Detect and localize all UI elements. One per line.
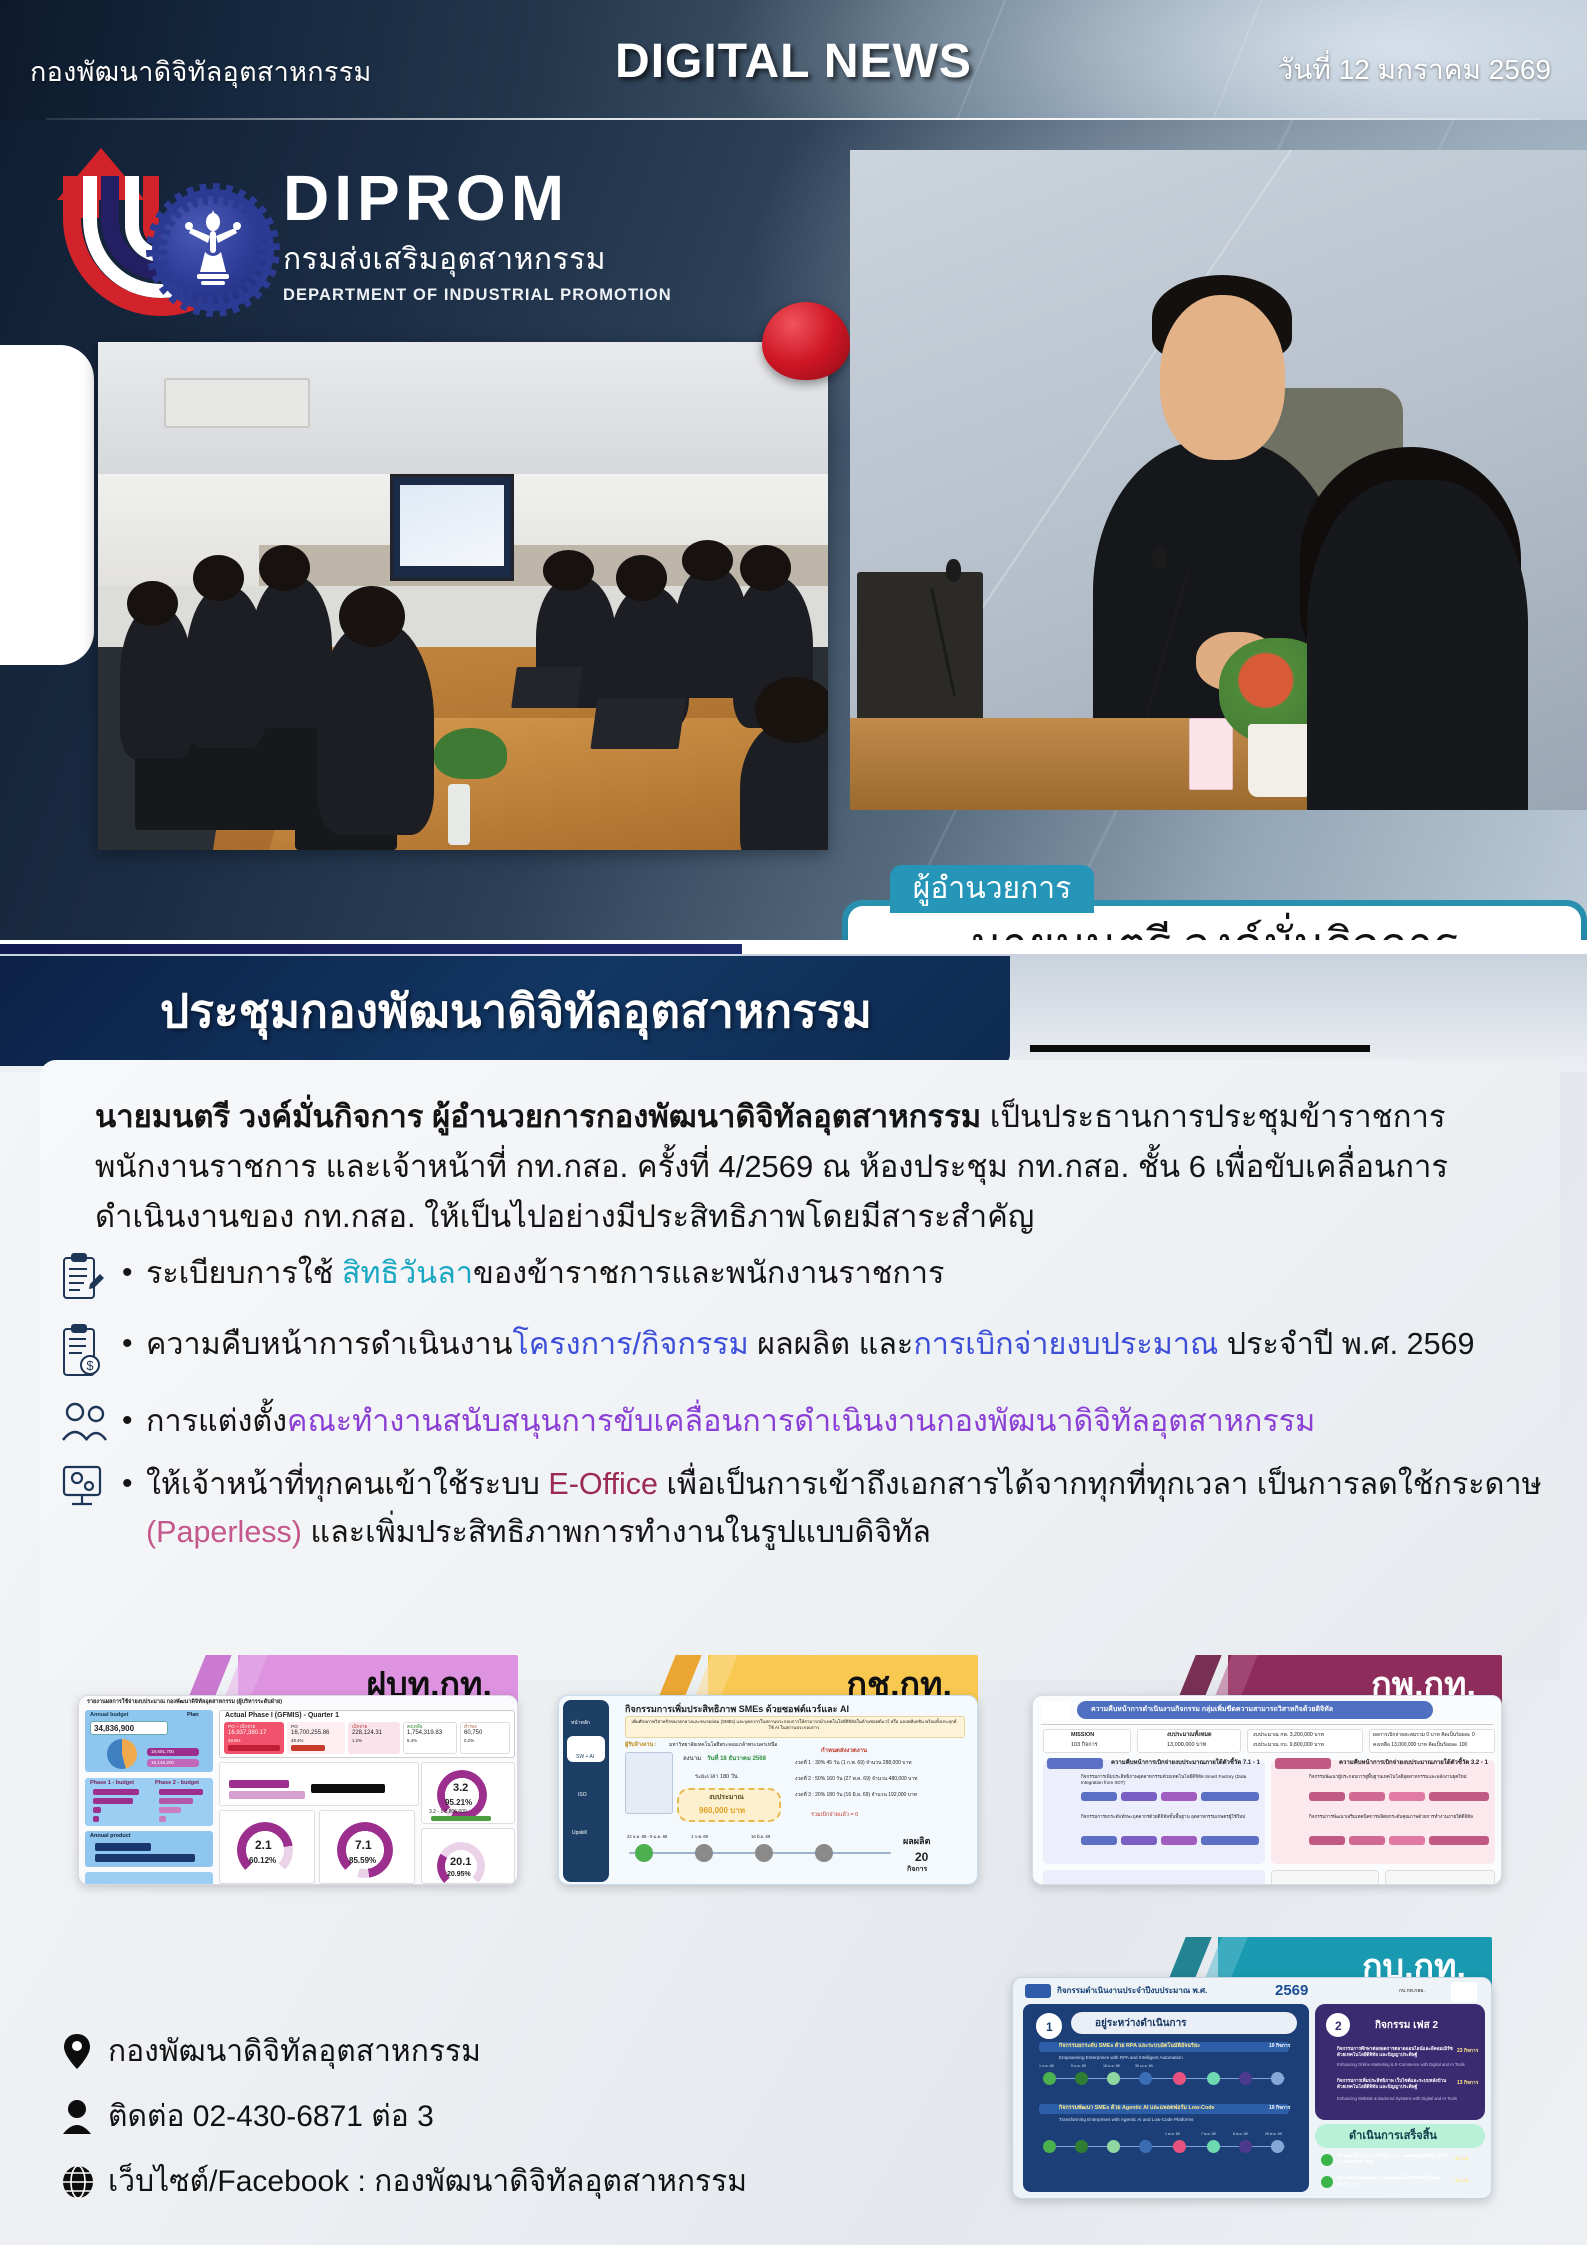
progress-item: กิจกรรมการพัฒนาเสริมเทคนิคการผลิตยกระดับ… bbox=[1309, 1814, 1489, 1820]
headline-banner: ประชุมกองพัฒนาดิจิทัลอุตสาหกรรม bbox=[0, 956, 1010, 1066]
bullet-item-leave-policy: • ระเบียบการใช้ สิทธิวันลาของข้าราชการแล… bbox=[60, 1250, 1560, 1307]
bullet-item-working-group: • การแต่งตั้งคณะทำงานสนับสนุนการขับเคลื่… bbox=[60, 1398, 1560, 1447]
meeting-room-photo bbox=[98, 342, 828, 850]
done-item: กิจกรรมยกระดับบุคลากรด้วยเทคโนโลยีดิจิทั… bbox=[1337, 2175, 1453, 2186]
gauge-code: 2.1 bbox=[255, 1838, 272, 1853]
done-label: ดำเนินการเสร็จสิ้น bbox=[1349, 2130, 1437, 2144]
bullet-part: และเพิ่มประสิทธิภาพการทำงานในรูปแบบดิจิท… bbox=[302, 1515, 931, 1549]
sidebar-item[interactable]: ISO bbox=[578, 1792, 587, 1798]
output-value: 20 bbox=[915, 1850, 928, 1865]
timeline-date: 30 เม.ย. 69 bbox=[1135, 2064, 1153, 2068]
kpi-value: 60,750 bbox=[464, 1730, 482, 1738]
infographic-card-fbt[interactable]: ฝบท.กท. รายงานผลการใช้จ่ายงบประมาณ กองพั… bbox=[78, 1655, 518, 1885]
budget-line: คงเหลือ 13,000,000 บาท คิดเป็นร้อยละ 100 bbox=[1373, 1742, 1467, 1748]
amount-1: 19,691,700 bbox=[151, 1749, 174, 1755]
page-header: กองพัฒนาดิจิทัลอุตสาหกรรม DIGITAL NEWS ว… bbox=[0, 0, 1587, 120]
done-count: 35 ราย bbox=[1455, 2178, 1469, 2184]
bullet-highlight: E-Office bbox=[548, 1467, 658, 1501]
activity-count: 10 กิจการ bbox=[1269, 2105, 1290, 2111]
card-body-fbt: รายงานผลการใช้จ่ายงบประมาณ กองพัฒนาดิจิท… bbox=[78, 1695, 518, 1885]
diprom-logo: DIPROM กรมส่งเสริมอุตสาหกรรม DEPARTMENT … bbox=[55, 140, 695, 330]
deity-emblem-icon bbox=[177, 206, 249, 294]
output-label: ผลผลิต bbox=[903, 1836, 930, 1847]
activity-title: กิจกรรมการศึกษาต่อยอดการตลาดออนไลน์และอี… bbox=[1337, 2046, 1453, 2057]
sidebar-item[interactable]: SW + AI bbox=[576, 1754, 594, 1760]
bullet-marker: • bbox=[122, 1321, 146, 1366]
installment-header: กำหนดส่งงวดงาน bbox=[821, 1748, 867, 1756]
phase-badge: 2 bbox=[1335, 2019, 1342, 2034]
annual-budget-label: Annual budget bbox=[90, 1712, 129, 1719]
amount-2: 15,145,200 bbox=[151, 1760, 174, 1766]
footer-row-website: เว็บไซต์/Facebook : กองพัฒนาดิจิทัลอุตสา… bbox=[62, 2158, 882, 2205]
column-title-right: ความคืบหน้าการเบิกจ่ายงบประมาณภายใต้ตัวช… bbox=[1339, 1760, 1488, 1768]
timeline-date: 29 พ.ค. 69 bbox=[1265, 2132, 1282, 2136]
mission-label: MISSION bbox=[1071, 1732, 1094, 1739]
kpi-pct: 48.6% bbox=[228, 1738, 240, 1744]
clipboard-pen-icon bbox=[60, 1250, 122, 1307]
timeline-date: 16 ม.ค. 69 bbox=[1103, 2064, 1120, 2068]
phase2-label: กิจกรรม เฟส 2 bbox=[1375, 2020, 1438, 2033]
installment-item: งวดที่ 2 : 50% 160 วัน (27 พ.ค. 69) จำนว… bbox=[795, 1776, 917, 1782]
activity-subtitle: Enhancing Website & Backend Systems with… bbox=[1337, 2096, 1467, 2101]
kpi-value: 16,937,380.17 bbox=[228, 1730, 266, 1738]
card-title: ความคืบหน้าการดำเนินงานกิจกรรม กลุ่มเพิ่… bbox=[1091, 1706, 1333, 1715]
bullet-part: ระเบียบการใช้ bbox=[146, 1256, 342, 1290]
installment-item: งวดที่ 1 : 30% 45 วัน (1 ก.พ. 69) จำนวน … bbox=[795, 1760, 912, 1766]
kpi-value: 16,700,255.86 bbox=[291, 1730, 329, 1738]
column-title-left: ความคืบหน้าการเบิกจ่ายงบประมาณภายใต้ตัวช… bbox=[1111, 1760, 1260, 1768]
kpi-value: 1,754,319.83 bbox=[407, 1730, 442, 1738]
kpi-label: คงเหลือ bbox=[407, 1724, 423, 1730]
phase2-budget-label: Phase 2 - budget bbox=[155, 1780, 199, 1787]
digital-news-poster: กองพัฒนาดิจิทัลอุตสาหกรรม DIGITAL NEWS ว… bbox=[0, 0, 1587, 2245]
red-decoration-ball bbox=[762, 302, 850, 380]
footer-website-text[interactable]: เว็บไซต์/Facebook : กองพัฒนาดิจิทัลอุตสา… bbox=[108, 2158, 747, 2205]
headline-rule bbox=[1030, 1045, 1370, 1052]
annual-budget-value: 34,836,900 bbox=[94, 1724, 134, 1734]
lead-paragraph: นายมนตรี วงค์มั่นกิจการ ผู้อำนวยการกองพั… bbox=[95, 1092, 1525, 1243]
contractor-name: มหาวิทยาลัยเทคโนโลยีพระจอมเกล้าพระนครเหน… bbox=[669, 1742, 777, 1748]
svg-text:$: $ bbox=[86, 1358, 94, 1373]
bullet-part: ความคืบหน้าการดำเนินงาน bbox=[146, 1327, 513, 1361]
signed-date: วันที่ 18 ธันวาคม 2568 bbox=[707, 1756, 766, 1764]
diprom-logo-mark bbox=[55, 140, 270, 330]
footer-contact: กองพัฒนาดิจิทัลอุตสาหกรรม ติดต่อ 02-430-… bbox=[62, 2028, 882, 2223]
bullet-text: ระเบียบการใช้ สิทธิวันลาของข้าราชการและพ… bbox=[146, 1250, 1560, 1298]
disbursed-total: รวมเบิกจ่ายแล้ว = 0 bbox=[811, 1812, 858, 1819]
activity-title: กิจกรรมการเพิ่มประสิทธิภาพ เว็บไซต์และระ… bbox=[1337, 2078, 1453, 2089]
card-title: กิจกรรมดำเนินงานประจำปีงบประมาณ พ.ศ. bbox=[1057, 1986, 1207, 1996]
timeline-date: 16 มิ.ย. 69 bbox=[751, 1834, 770, 1839]
infographic-card-kp[interactable]: กพ.กท. ความคืบหน้าการดำเนินงานกิจกรรม กล… bbox=[1032, 1655, 1502, 1885]
budget-value: 960,000 บาท bbox=[699, 1806, 745, 1816]
output-unit: กิจการ bbox=[907, 1866, 927, 1875]
gauge-pct: 20.95% bbox=[447, 1871, 471, 1880]
director-role-badge: ผู้อำนวยการ bbox=[890, 865, 1094, 913]
card-body-kp: ความคืบหน้าการดำเนินงานกิจกรรม กลุ่มเพิ่… bbox=[1032, 1695, 1502, 1885]
activity-title: กิจกรรมพัฒนา SMEs ด้วย Agentic AI และแพล… bbox=[1059, 2105, 1215, 2112]
people-group-icon bbox=[60, 1398, 122, 1447]
activity-title: กิจกรรมยกระดับ SMEs ด้วย RPA และระบบอัตโ… bbox=[1059, 2043, 1200, 2050]
kpi-pct: 5.4% bbox=[407, 1738, 417, 1744]
infographic-card-kch[interactable]: กช.กท. หน้าหลัก SW + AI ISO Upskill กิจก… bbox=[558, 1655, 978, 1885]
progress-item: กิจกรรมการเพิ่มประสิทธิภาพอุตสาหกรรมด้วย… bbox=[1081, 1774, 1259, 1785]
activity-subtitle: Empowering Enterprises with RPA and Inte… bbox=[1059, 2055, 1183, 2061]
bullet-marker: • bbox=[122, 1398, 146, 1443]
director-photo bbox=[850, 150, 1587, 810]
logo-thai-name: กรมส่งเสริมอุตสาหกรรม bbox=[283, 236, 672, 283]
gauge-code: 3.2 bbox=[453, 1782, 468, 1796]
activity-count: 10 กิจการ bbox=[1269, 2043, 1290, 2049]
left-white-plate bbox=[0, 345, 94, 665]
lead-bold: นายมนตรี วงค์มั่นกิจการ ผู้อำนวยการกองพั… bbox=[95, 1099, 981, 1134]
bullet-item-project-progress: $ • ความคืบหน้าการดำเนินงานโครงการ/กิจกร… bbox=[60, 1321, 1560, 1384]
phase-badge: 1 bbox=[1046, 2020, 1053, 2035]
progress-item: กิจกรรมการยกระดับทักษะบุคลากรด้วยดิจิทัล… bbox=[1081, 1814, 1259, 1820]
bullet-highlight: (Paperless) bbox=[146, 1515, 302, 1549]
kpi-pct: 48.4% bbox=[291, 1738, 303, 1744]
duration: ระยะเวลา 180 วัน bbox=[695, 1774, 738, 1781]
bullet-part: ผลผลิต และ bbox=[749, 1327, 914, 1361]
annual-product-label: Annual product bbox=[90, 1833, 131, 1840]
budget-line: งบประมาณ กพ. 3,200,000 บาท bbox=[1253, 1732, 1324, 1739]
footer-row-phone: ติดต่อ 02-430-6871 ต่อ 3 bbox=[62, 2093, 882, 2140]
sidebar-item[interactable]: หน้าหลัก bbox=[571, 1720, 590, 1726]
bullet-item-eoffice: • ให้เจ้าหน้าที่ทุกคนเข้าใช้ระบบ E-Offic… bbox=[60, 1461, 1560, 1556]
bullet-text: การแต่งตั้งคณะทำงานสนับสนุนการขับเคลื่อน… bbox=[146, 1398, 1560, 1446]
installment-item: งวดที่ 3 : 20% 180 วัน (16 มิ.ย. 69) จำน… bbox=[795, 1792, 917, 1798]
kpi-value: 228,124.31 bbox=[352, 1730, 382, 1738]
budget-line: งบประมาณ กบ. 9,800,000 บาท bbox=[1253, 1742, 1324, 1749]
total-budget-value: 13,000,000 บาท bbox=[1167, 1742, 1206, 1749]
kpi-label: PO + เบิกจ่าย bbox=[228, 1724, 255, 1730]
gauge-code: 20.1 bbox=[450, 1856, 471, 1870]
budget-year: 2569 bbox=[1275, 1982, 1308, 2001]
kpi-label: เบิกจ่าย bbox=[352, 1724, 367, 1730]
budget-label: งบประมาณ bbox=[709, 1794, 744, 1803]
kpi-label: สำรอง bbox=[464, 1724, 477, 1730]
bullet-part: การแต่งตั้ง bbox=[146, 1404, 287, 1438]
done-count: 30 ราย bbox=[1455, 2156, 1469, 2162]
bullet-part: ประจำปี พ.ศ. 2569 bbox=[1218, 1327, 1474, 1361]
globe-icon bbox=[62, 2165, 108, 2199]
timeline-date: 7 พ.ค. 69 bbox=[1201, 2132, 1216, 2136]
kpi-label: PO bbox=[291, 1724, 298, 1730]
timeline-date: 5 ม.ค. 69 bbox=[1071, 2064, 1086, 2068]
header-date: วันที่ 12 มกราคม 2569 bbox=[1278, 48, 1551, 92]
clipboard-budget-icon: $ bbox=[60, 1321, 122, 1384]
card-subtitle: Actual Phase I (GFMIS) - Quarter 1 bbox=[225, 1712, 339, 1721]
timeline-date: 22 ธ.ค. 68 - 9 ม.ค. 69 bbox=[627, 1834, 667, 1839]
total-budget-label: งบประมาณทั้งหมด bbox=[1167, 1732, 1212, 1739]
person-icon bbox=[62, 2099, 108, 2135]
bullet-part: ของข้าราชการและพนักงานราชการ bbox=[473, 1256, 944, 1290]
phase1-label: อยู่ระหว่างดำเนินการ bbox=[1095, 2018, 1187, 2031]
bullet-highlight: คณะทำงานสนับสนุนการขับเคลื่อนการดำเนินงา… bbox=[287, 1404, 1315, 1438]
footer-address-text: กองพัฒนาดิจิทัลอุตสาหกรรม bbox=[108, 2028, 481, 2075]
phase1-budget-label: Phase 1 - budget bbox=[90, 1780, 134, 1787]
bullet-marker: • bbox=[122, 1250, 146, 1295]
done-item: กิจกรรมเป็นธุรกิจการค้าด้วย AI & แพลตฟอร… bbox=[1337, 2153, 1453, 2164]
infographic-card-kb[interactable]: กบ.กท. กิจกรรมดำเนินงานประจำปีงบประมาณ พ… bbox=[1012, 1937, 1492, 2199]
gauge-pct: 85.59% bbox=[349, 1856, 376, 1866]
card-title: กิจกรรมการเพิ่มประสิทธิภาพ SMEs ด้วยซอฟต… bbox=[625, 1704, 849, 1715]
timeline-date: 1 พ.ค. 69 bbox=[1165, 2132, 1180, 2136]
activity-subtitle: Enhancing Online Marketing & E-Commerce … bbox=[1337, 2062, 1467, 2067]
footer-row-address: กองพัฒนาดิจิทัลอุตสาหกรรม bbox=[62, 2028, 882, 2075]
mission-value: 103 กิจการ bbox=[1071, 1742, 1098, 1749]
activity-count: 13 กิจการ bbox=[1457, 2080, 1478, 2086]
progress-item: กิจกรรมพัฒนาผู้ประกอบการสู่พื้นฐานเทคโนโ… bbox=[1309, 1774, 1489, 1780]
bullet-highlight: การเบิกจ่ายงบประมาณ bbox=[913, 1327, 1218, 1361]
bullet-marker: • bbox=[122, 1461, 146, 1506]
card-title: รายงานผลการใช้จ่ายงบประมาณ กองพัฒนาดิจิท… bbox=[87, 1699, 282, 1706]
kpi-pct: 0.2% bbox=[464, 1738, 474, 1744]
bullet-list: • ระเบียบการใช้ สิทธิวันลาของข้าราชการแล… bbox=[60, 1250, 1560, 1570]
footer-phone-text[interactable]: ติดต่อ 02-430-6871 ต่อ 3 bbox=[108, 2093, 434, 2140]
plan-label: Plan bbox=[187, 1712, 199, 1719]
kpi-pct: 1.2% bbox=[352, 1738, 362, 1744]
card-body-kb: กิจกรรมดำเนินงานประจำปีงบประมาณ พ.ศ. 256… bbox=[1012, 1977, 1492, 2199]
page-title: ประชุมกองพัฒนาดิจิทัลอุตสาหกรรม bbox=[0, 975, 872, 1048]
logo-acronym: DIPROM bbox=[283, 166, 672, 230]
gauge-code: 7.1 bbox=[355, 1838, 372, 1853]
card-description: เพิ่มศักยภาพวิสาหกิจขนาดกลางและขนาดย่อม … bbox=[631, 1719, 957, 1730]
headline-accent-bar bbox=[0, 944, 742, 954]
gear-icon bbox=[159, 196, 267, 304]
timeline-date: 8 พ.ค. 69 bbox=[1233, 2132, 1248, 2136]
monitor-gear-icon bbox=[60, 1461, 122, 1516]
gauge-pct: 60.12% bbox=[249, 1856, 276, 1866]
logo-english-name: DEPARTMENT OF INDUSTRIAL PROMOTION bbox=[283, 286, 672, 305]
card-owner: กบ.กท.กสอ. bbox=[1399, 1988, 1425, 1994]
sub-value: 3.2 - 1 5,806,600 bbox=[429, 1809, 467, 1815]
card-body-kch: หน้าหลัก SW + AI ISO Upskill กิจกรรมการเ… bbox=[558, 1695, 978, 1885]
bullet-part: เพื่อเป็นการเข้าถึงเอกสารได้จากทุกที่ทุก… bbox=[658, 1467, 1542, 1501]
signed-label: ลงนาม bbox=[683, 1756, 701, 1764]
contractor-label: ผู้รับจ้างงาน : bbox=[625, 1742, 657, 1749]
bullet-text: ให้เจ้าหน้าที่ทุกคนเข้าใช้ระบบ E-Office … bbox=[146, 1461, 1560, 1556]
timeline-date: 1 ก.พ. 69 bbox=[691, 1834, 708, 1839]
activity-count: 23 กิจการ bbox=[1457, 2048, 1478, 2054]
bullet-highlight: สิทธิวันลา bbox=[342, 1256, 473, 1290]
budget-line: ผลการเบิกจ่ายสะสมรวม 0 บาท คิดเป็นร้อยละ… bbox=[1373, 1732, 1475, 1738]
timeline-date: 1 ธ.ค. 68 bbox=[1039, 2064, 1054, 2068]
location-pin-icon bbox=[62, 2033, 108, 2071]
bullet-part: ให้เจ้าหน้าที่ทุกคนเข้าใช้ระบบ bbox=[146, 1467, 548, 1501]
sidebar-item[interactable]: Upskill bbox=[572, 1830, 587, 1836]
bullet-text: ความคืบหน้าการดำเนินงานโครงการ/กิจกรรม ผ… bbox=[146, 1321, 1560, 1369]
gauge-pct: 95.21% bbox=[445, 1798, 472, 1808]
hero-section: DIPROM กรมส่งเสริมอุตสาหกรรม DEPARTMENT … bbox=[0, 120, 1587, 940]
bullet-highlight: โครงการ/กิจกรรม bbox=[513, 1327, 749, 1361]
activity-subtitle: Transforming Enterprises with Agentic AI… bbox=[1059, 2117, 1193, 2123]
